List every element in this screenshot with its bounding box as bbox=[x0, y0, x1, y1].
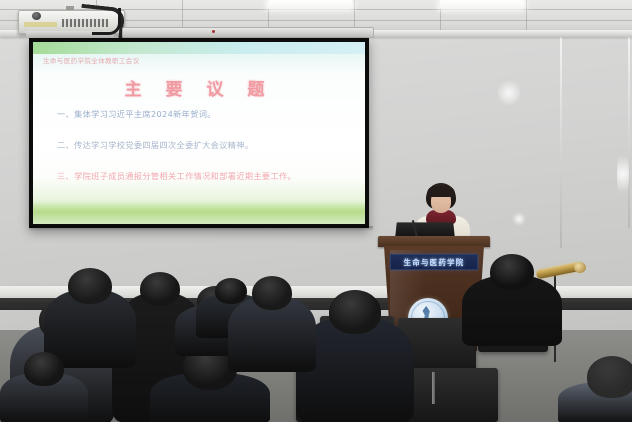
audience-3-head bbox=[68, 268, 112, 304]
screen-roller-housing bbox=[122, 27, 374, 38]
wall-seam bbox=[628, 28, 630, 228]
audience-6-head bbox=[329, 290, 381, 334]
slide-content: 生命与医药学院全体教职工会议 主 要 议 题 一、集体学习习近平主席2024新年… bbox=[33, 42, 365, 224]
audience-9 bbox=[462, 254, 562, 346]
ceiling-light bbox=[268, 0, 352, 9]
podium-sign-text: 生命与医药学院 bbox=[404, 257, 465, 268]
audience-2-head bbox=[140, 272, 180, 306]
wall-seam bbox=[560, 28, 562, 248]
chair-leg bbox=[432, 372, 435, 404]
projection-screen: 生命与医药学院全体教职工会议 主 要 议 题 一、集体学习习近平主席2024新年… bbox=[29, 38, 369, 228]
slide-bullet-list: 一、集体学习习近平主席2024新年贺词。 二、传达学习学校党委四届四次全委扩大会… bbox=[57, 108, 345, 201]
podium-top-surface bbox=[378, 236, 490, 247]
slide-grass-gradient bbox=[33, 202, 365, 224]
projector-lens-icon bbox=[32, 12, 41, 20]
laptop-on-podium bbox=[395, 222, 455, 237]
projector-label bbox=[24, 22, 57, 27]
slide-title: 主 要 议 题 bbox=[33, 75, 365, 100]
microphone-head-icon bbox=[574, 262, 586, 273]
audience-8-head bbox=[252, 276, 292, 310]
audience-10-head bbox=[587, 356, 632, 398]
slide-bullet-3: 三、学院班子成员通报分管相关工作情况和部署近期主要工作。 bbox=[57, 170, 345, 182]
ceiling-projector-icon bbox=[18, 6, 133, 36]
audience-11-head bbox=[24, 352, 64, 386]
audience-8 bbox=[228, 276, 316, 372]
slide-header-text: 生命与医药学院全体教职工会议 bbox=[43, 55, 140, 65]
screen-drop-shadow bbox=[29, 226, 373, 231]
wall-highlight bbox=[498, 78, 520, 108]
presenter-hair-fringe bbox=[427, 186, 455, 197]
audience-9-head bbox=[490, 254, 534, 290]
meeting-room-photo: 生命与医药学院全体教职工会议 主 要 议 题 一、集体学习习近平主席2024新年… bbox=[0, 0, 632, 422]
projector-cable bbox=[92, 8, 121, 35]
slide-bullet-1: 一、集体学习习近平主席2024新年贺词。 bbox=[57, 108, 345, 120]
slide-top-band bbox=[33, 42, 365, 54]
wall-highlight bbox=[512, 212, 526, 226]
audience-11 bbox=[0, 352, 88, 422]
housing-indicator-led bbox=[212, 30, 215, 33]
slide-bullet-2: 二、传达学习学校党委四届四次全委扩大会议精神。 bbox=[57, 139, 345, 151]
wall-highlight bbox=[617, 148, 629, 200]
ceiling-light bbox=[440, 0, 524, 9]
audience-10 bbox=[558, 356, 632, 422]
